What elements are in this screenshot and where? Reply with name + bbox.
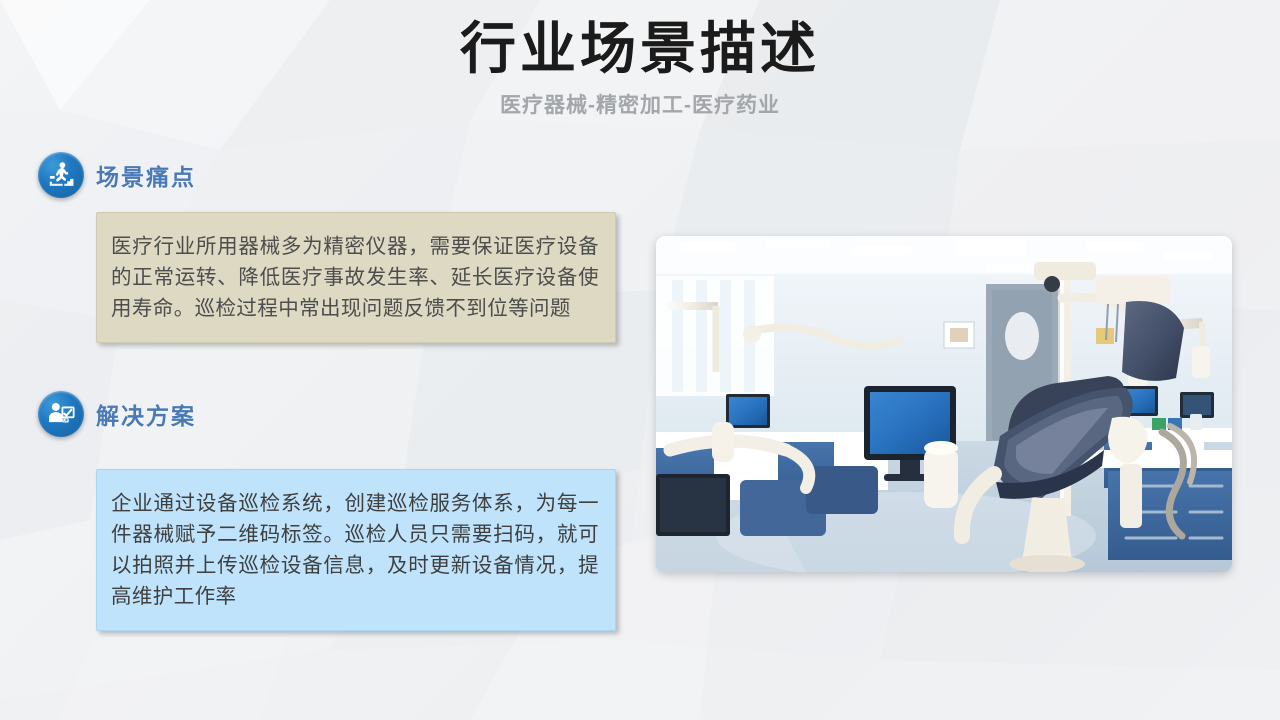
section-solution-title: 解决方案: [96, 397, 196, 431]
page-title: 行业场景描述: [0, 0, 1280, 81]
slide-root: 行业场景描述 医疗器械-精密加工-医疗药业 场景痛点 医疗行业所用: [0, 0, 1280, 720]
pain-points-text: 医疗行业所用器械多为精密仪器，需要保证医疗设备的正常运转、降低医疗事故发生率、延…: [111, 231, 599, 324]
solution-textbox: 企业通过设备巡检系统，创建巡检服务体系，为每一件器械赋予二维码标签。巡检人员只需…: [96, 469, 616, 631]
businessman-stairs-icon: [38, 152, 84, 198]
section-solution-header: UP 解决方案: [0, 389, 660, 439]
section-pain-points: 场景痛点 医疗行业所用器械多为精密仪器，需要保证医疗设备的正常运转、降低医疗事故…: [0, 150, 660, 343]
solution-text: 企业通过设备巡检系统，创建巡检服务体系，为每一件器械赋予二维码标签。巡检人员只需…: [111, 488, 599, 612]
content-left-column: 场景痛点 医疗行业所用器械多为精密仪器，需要保证医疗设备的正常运转、降低医疗事故…: [0, 150, 660, 631]
svg-text:UP: UP: [63, 419, 68, 423]
clinic-illustration: [656, 236, 1232, 572]
person-chart-board-icon: UP: [38, 391, 84, 437]
section-pain-points-header: 场景痛点: [0, 150, 660, 200]
section-solution: UP 解决方案 企业通过设备巡检系统，创建巡检服务体系，为每一件器械赋予二维码标…: [0, 389, 660, 631]
page-subtitle: 医疗器械-精密加工-医疗药业: [0, 81, 1280, 119]
pain-points-textbox: 医疗行业所用器械多为精密仪器，需要保证医疗设备的正常运转、降低医疗事故发生率、延…: [96, 212, 616, 343]
dental-clinic-photo: [656, 236, 1232, 572]
slide-header: 行业场景描述 医疗器械-精密加工-医疗药业: [0, 0, 1280, 119]
section-pain-points-title: 场景痛点: [96, 158, 196, 192]
